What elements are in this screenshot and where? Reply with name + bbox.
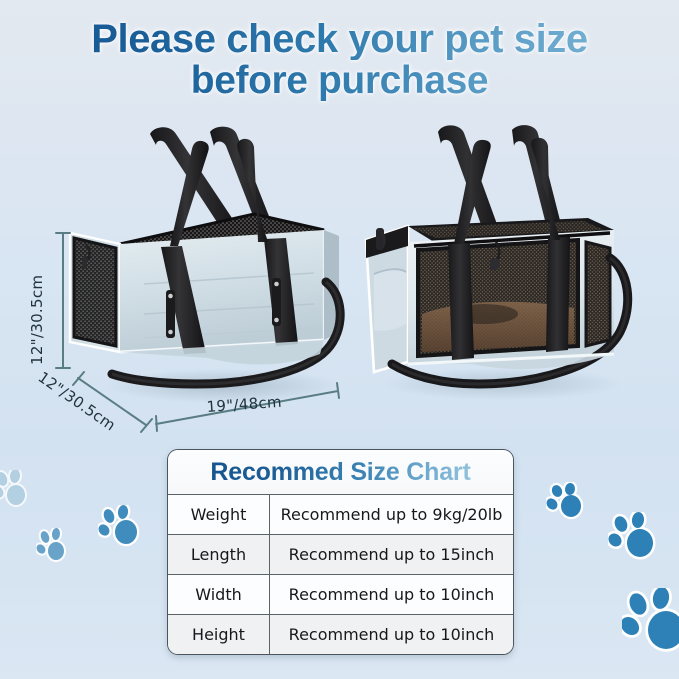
paw-print-icon bbox=[608, 512, 662, 566]
paw-print-icon bbox=[0, 470, 34, 514]
table-row: Width Recommend up to 10inch bbox=[168, 575, 513, 615]
size-chart-row-value: Recommend up to 10inch bbox=[270, 615, 513, 654]
table-row: Height Recommend up to 10inch bbox=[168, 615, 513, 654]
size-chart-title: Recommed Size Chart bbox=[168, 450, 513, 495]
size-chart-title-text: Recommed Size Chart bbox=[210, 458, 470, 486]
size-chart: Recommed Size Chart Weight Recommend up … bbox=[167, 449, 514, 655]
size-chart-row-value: Recommend up to 10inch bbox=[270, 575, 513, 614]
size-chart-row-label: Width bbox=[168, 575, 270, 614]
infographic-canvas: Please check your pet size before purcha… bbox=[0, 0, 679, 679]
size-chart-row-label: Height bbox=[168, 615, 270, 654]
size-chart-row-value: Recommend up to 15inch bbox=[270, 535, 513, 574]
size-chart-row-value: Recommend up to 9kg/20lb bbox=[270, 495, 513, 534]
paw-print-icon bbox=[546, 482, 588, 524]
table-row: Weight Recommend up to 9kg/20lb bbox=[168, 495, 513, 535]
size-chart-row-label: Length bbox=[168, 535, 270, 574]
paw-print-icon bbox=[622, 588, 679, 660]
paw-print-icon bbox=[98, 505, 144, 553]
dimension-callouts bbox=[0, 0, 679, 465]
paw-print-icon bbox=[36, 528, 72, 566]
table-row: Length Recommend up to 15inch bbox=[168, 535, 513, 575]
size-chart-row-label: Weight bbox=[168, 495, 270, 534]
